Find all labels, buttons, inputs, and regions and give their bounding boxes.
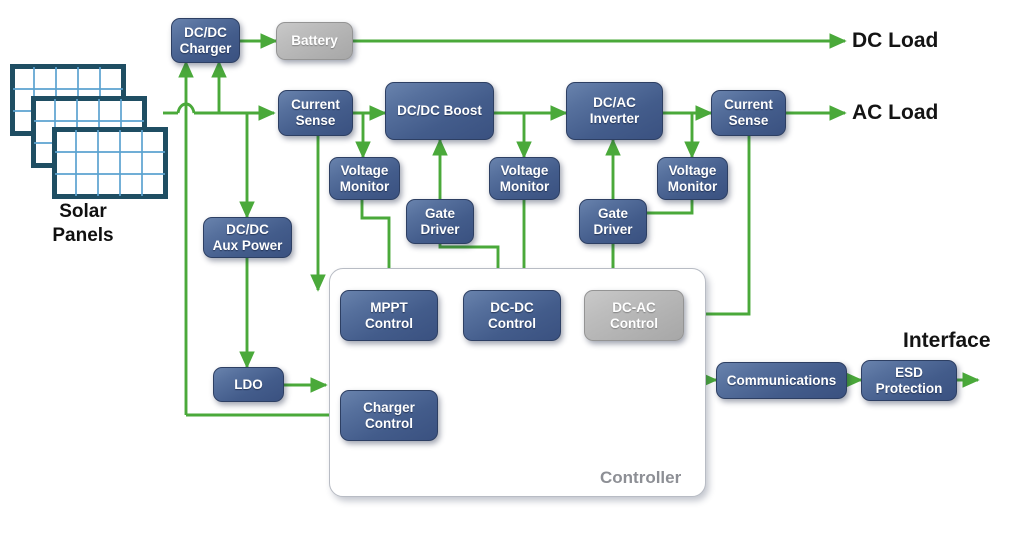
block-mppt-control[interactable]: MPPT Control: [340, 290, 438, 341]
dc-dc-charger-line1: DC/DC: [180, 25, 232, 41]
voltage-monitor-2-line1: Voltage: [500, 163, 550, 179]
charger-control-line1: Charger: [363, 400, 415, 416]
label-dc-load: DC Load: [852, 29, 938, 53]
voltage-monitor-3-line2: Monitor: [668, 179, 718, 195]
block-esd-protection[interactable]: ESD Protection: [861, 360, 957, 401]
gate-driver-1-line1: Gate: [420, 206, 459, 222]
dc-ac-inverter-line1: DC/AC: [590, 95, 640, 111]
solar-panels-caption: Solar Panels: [8, 200, 158, 249]
voltage-monitor-1-line1: Voltage: [340, 163, 390, 179]
current-sense-out-line2: Sense: [724, 113, 773, 129]
label-interface: Interface: [903, 329, 991, 353]
block-battery[interactable]: Battery: [276, 22, 353, 60]
block-dc-dc-charger[interactable]: DC/DC Charger: [171, 18, 240, 63]
dc-ac-control-line2: Control: [610, 316, 658, 332]
block-dc-dc-control[interactable]: DC-DC Control: [463, 290, 561, 341]
current-sense-out-line1: Current: [724, 97, 773, 113]
voltage-monitor-1-line2: Monitor: [340, 179, 390, 195]
solar-caption-line1: Solar: [8, 200, 158, 224]
current-sense-in-line1: Current: [291, 97, 340, 113]
dc-dc-boost-label: DC/DC Boost: [397, 103, 482, 119]
charger-control-line2: Control: [363, 416, 415, 432]
battery-label: Battery: [291, 33, 338, 49]
block-dc-dc-aux-power[interactable]: DC/DC Aux Power: [203, 217, 292, 258]
dc-dc-control-line1: DC-DC: [488, 300, 536, 316]
voltage-monitor-3-line1: Voltage: [668, 163, 718, 179]
block-dc-dc-boost[interactable]: DC/DC Boost: [385, 82, 494, 140]
solar-panel-front: [52, 127, 168, 199]
communications-label: Communications: [727, 373, 837, 389]
esd-protection-line1: ESD: [876, 365, 943, 381]
block-voltage-monitor-1[interactable]: Voltage Monitor: [329, 157, 400, 200]
block-current-sense-output[interactable]: Current Sense: [711, 90, 786, 136]
ldo-label: LDO: [234, 377, 263, 393]
block-current-sense-input[interactable]: Current Sense: [278, 90, 353, 136]
dc-ac-inverter-line2: Inverter: [590, 111, 640, 127]
dc-ac-control-line1: DC-AC: [610, 300, 658, 316]
esd-protection-line2: Protection: [876, 381, 943, 397]
block-dc-ac-control[interactable]: DC-AC Control: [584, 290, 684, 341]
current-sense-in-line2: Sense: [291, 113, 340, 129]
block-dc-ac-inverter[interactable]: DC/AC Inverter: [566, 82, 663, 140]
block-gate-driver-1[interactable]: Gate Driver: [406, 199, 474, 244]
gate-driver-2-line1: Gate: [593, 206, 632, 222]
block-ldo[interactable]: LDO: [213, 367, 284, 402]
voltage-monitor-2-line2: Monitor: [500, 179, 550, 195]
block-charger-control[interactable]: Charger Control: [340, 390, 438, 441]
block-gate-driver-2[interactable]: Gate Driver: [579, 199, 647, 244]
dc-dc-charger-line2: Charger: [180, 41, 232, 57]
block-communications[interactable]: Communications: [716, 362, 847, 399]
dc-dc-control-line2: Control: [488, 316, 536, 332]
dc-dc-aux-power-line1: DC/DC: [213, 222, 283, 238]
gate-driver-2-line2: Driver: [593, 222, 632, 238]
block-voltage-monitor-3[interactable]: Voltage Monitor: [657, 157, 728, 200]
gate-driver-1-line2: Driver: [420, 222, 459, 238]
mppt-control-line2: Control: [365, 316, 413, 332]
block-voltage-monitor-2[interactable]: Voltage Monitor: [489, 157, 560, 200]
solar-caption-line2: Panels: [8, 224, 158, 248]
label-ac-load: AC Load: [852, 101, 938, 125]
controller-label: Controller: [600, 468, 681, 488]
diagram-canvas: Controller: [0, 0, 1017, 540]
mppt-control-line1: MPPT: [365, 300, 413, 316]
dc-dc-aux-power-line2: Aux Power: [213, 238, 283, 254]
